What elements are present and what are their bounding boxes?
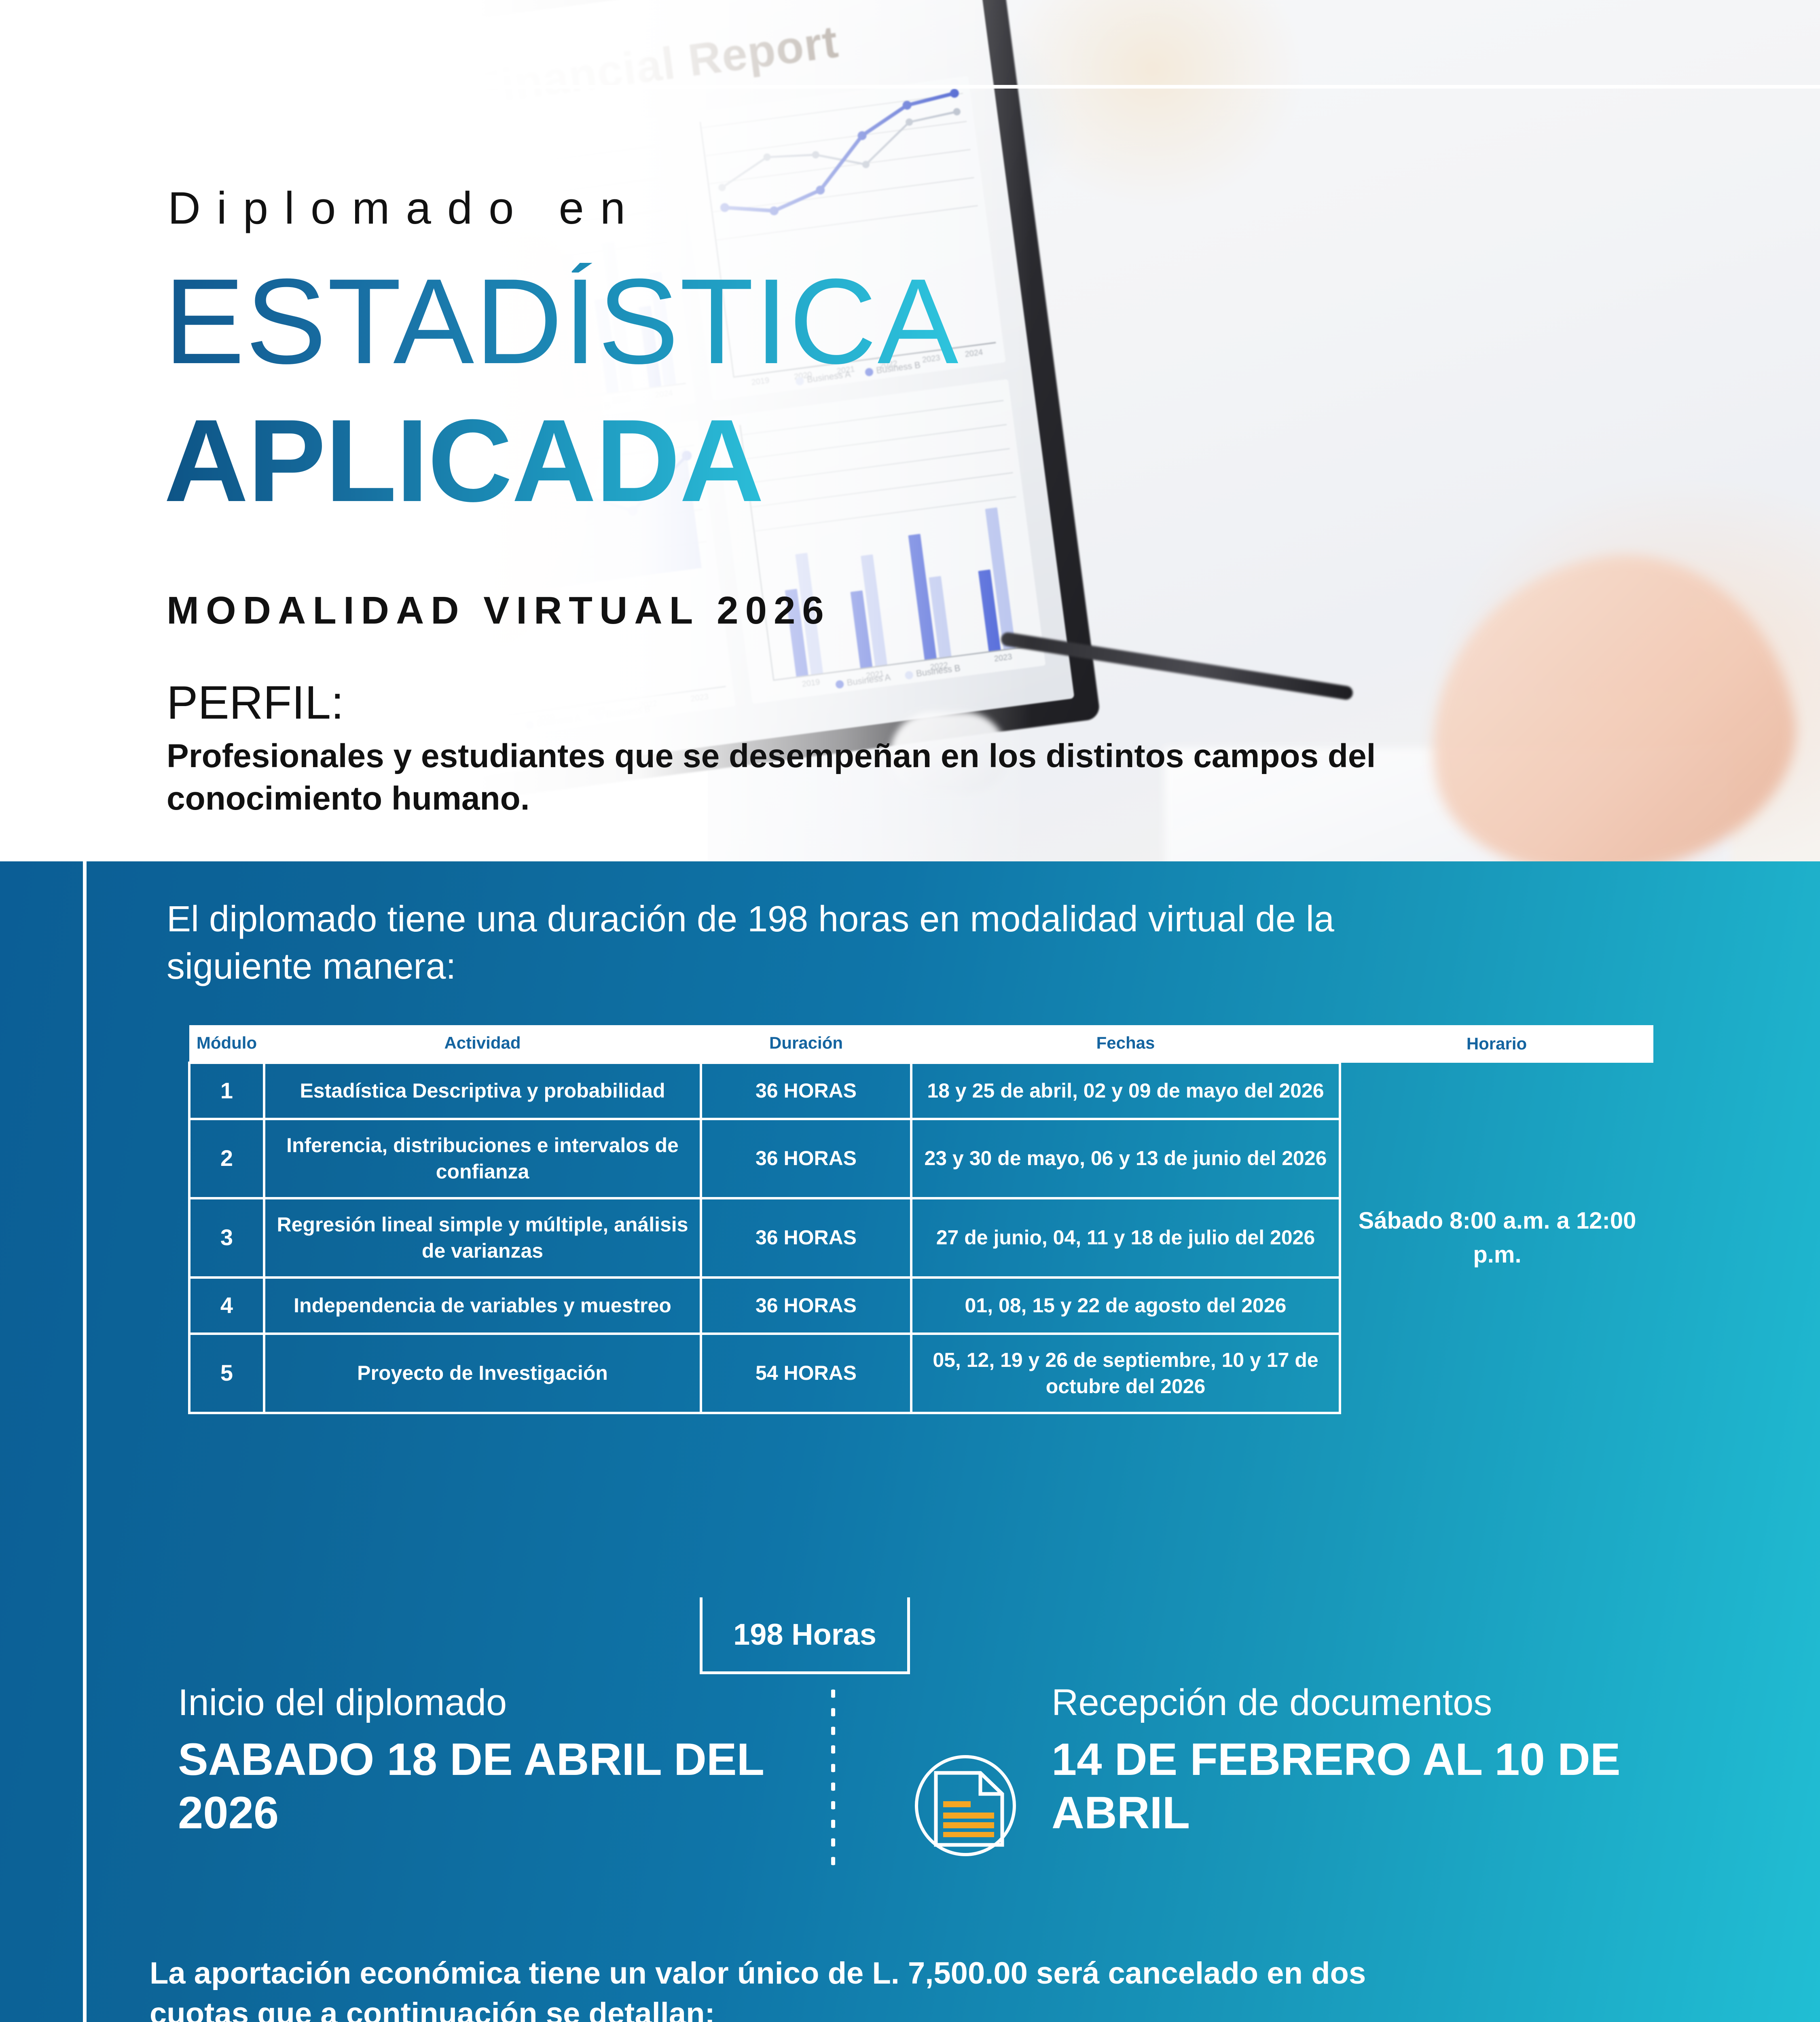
start-date-label: Inicio del diplomado: [178, 1682, 785, 1723]
cell-modulo: 4: [189, 1277, 264, 1334]
schedule-table: Módulo Actividad Duración Fechas Horario…: [188, 1025, 1653, 1414]
title-line-2: APLICADA: [164, 404, 763, 517]
docs-date-label: Recepción de documentos: [1052, 1682, 1739, 1723]
cell-horario: Sábado 8:00 a.m. a 12:00 p.m.: [1340, 1063, 1653, 1413]
cell-modulo: 3: [189, 1198, 264, 1277]
cell-fechas: 18 y 25 de abril, 02 y 09 de mayo del 20…: [911, 1063, 1340, 1119]
col-header-duracion: Duración: [701, 1025, 911, 1063]
cell-duracion: 36 HORAS: [701, 1198, 911, 1277]
fees-section: La aportación económica tiene un valor ú…: [150, 1953, 1403, 2022]
cell-duracion: 36 HORAS: [701, 1277, 911, 1334]
profile-text: Profesionales y estudiantes que se desem…: [167, 735, 1420, 820]
hero-section: Financial Report: [0, 0, 1820, 861]
cell-fechas: 05, 12, 19 y 26 de septiembre, 10 y 17 d…: [911, 1334, 1340, 1413]
col-header-fechas: Fechas: [911, 1025, 1340, 1063]
col-header-actividad: Actividad: [264, 1025, 701, 1063]
total-hours-box: 198 Horas: [700, 1597, 910, 1674]
schedule-intro: El diplomado tiene una duración de 198 h…: [167, 896, 1481, 990]
start-date-block: Inicio del diplomado SABADO 18 DE ABRIL …: [178, 1682, 785, 1840]
dates-section: Inicio del diplomado SABADO 18 DE ABRIL …: [0, 1682, 1820, 1917]
modality-text: MODALIDAD VIRTUAL 2026: [167, 588, 831, 633]
cell-duracion: 36 HORAS: [701, 1119, 911, 1198]
docs-date-value: 14 DE FEBRERO AL 10 DE ABRIL: [1052, 1733, 1739, 1840]
cell-actividad: Proyecto de Investigación: [264, 1334, 701, 1413]
cell-modulo: 2: [189, 1119, 264, 1198]
cell-modulo: 5: [189, 1334, 264, 1413]
table-row: 1 Estadística Descriptiva y probabilidad…: [189, 1063, 1653, 1119]
cell-actividad: Inferencia, distribuciones e intervalos …: [264, 1119, 701, 1198]
cell-fechas: 27 de junio, 04, 11 y 18 de julio del 20…: [911, 1198, 1340, 1277]
profile-label: PERFIL:: [167, 675, 344, 730]
title-line-1: ESTADÍSTICA: [164, 263, 959, 379]
cell-actividad: Regresión lineal simple y múltiple, anál…: [264, 1198, 701, 1277]
cell-actividad: Independencia de variables y muestreo: [264, 1277, 701, 1334]
dotted-divider: [831, 1684, 835, 1870]
cell-actividad: Estadística Descriptiva y probabilidad: [264, 1063, 701, 1119]
col-header-modulo: Módulo: [189, 1025, 264, 1063]
document-icon: [915, 1755, 1016, 1856]
fees-headline: La aportación económica tiene un valor ú…: [150, 1953, 1403, 2022]
start-date-value: SABADO 18 DE ABRIL DEL 2026: [178, 1733, 785, 1840]
docs-date-block: Recepción de documentos 14 DE FEBRERO AL…: [1052, 1682, 1739, 1840]
cell-fechas: 01, 08, 15 y 22 de agosto del 2026: [911, 1277, 1340, 1334]
cell-duracion: 36 HORAS: [701, 1063, 911, 1119]
table-header-row: Módulo Actividad Duración Fechas Horario: [189, 1025, 1653, 1063]
cell-duracion: 54 HORAS: [701, 1334, 911, 1413]
col-header-horario: Horario: [1340, 1025, 1653, 1063]
cell-fechas: 23 y 30 de mayo, 06 y 13 de junio del 20…: [911, 1119, 1340, 1198]
poster-root: Financial Report: [0, 0, 1820, 2022]
document-glyph: [933, 1770, 1005, 1847]
eyebrow-text: Diplomado en: [168, 182, 641, 234]
cell-modulo: 1: [189, 1063, 264, 1119]
